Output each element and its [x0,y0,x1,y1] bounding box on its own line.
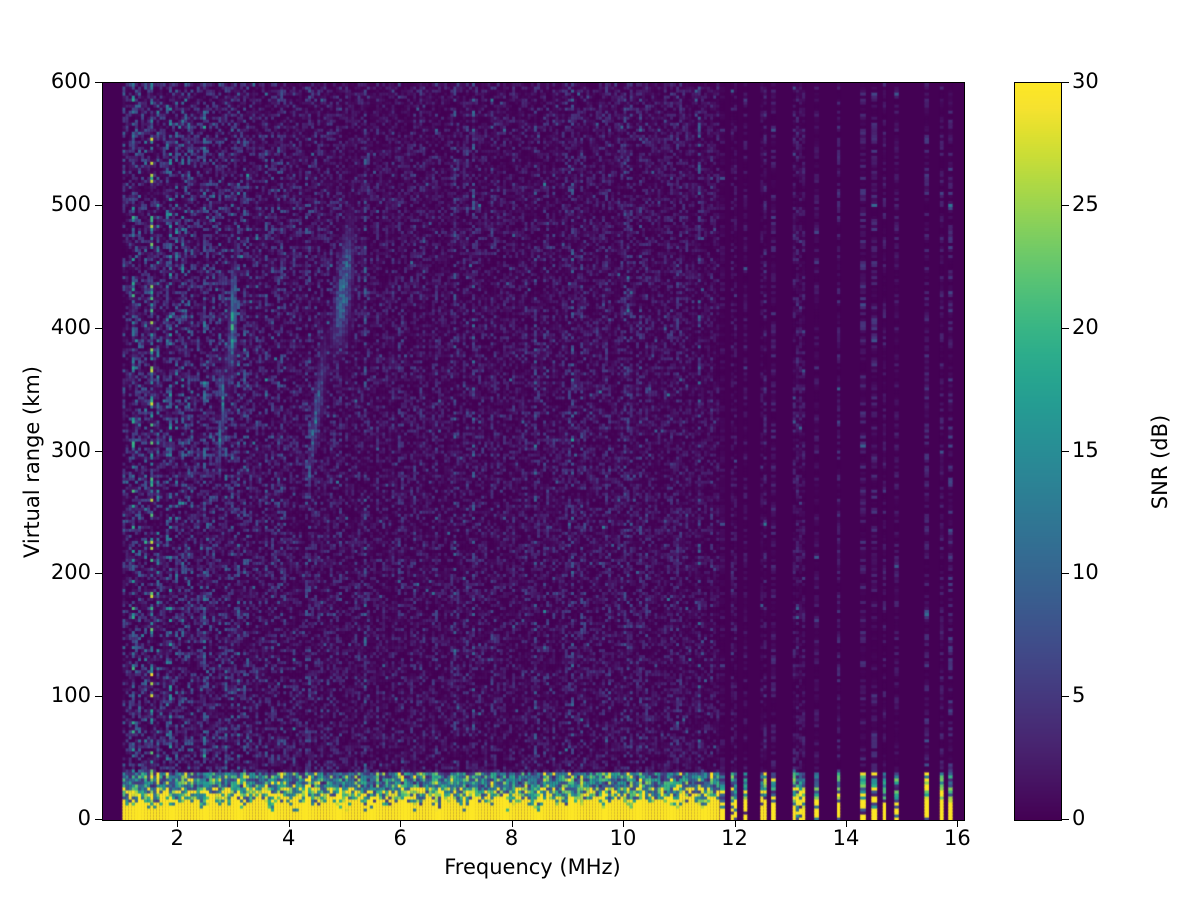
y-tick-label: 200 [51,562,91,583]
y-tick-mark [95,205,102,206]
colorbar-gradient [1015,83,1061,820]
colorbar-tick-label: 5 [1072,685,1085,706]
y-tick-mark [95,696,102,697]
colorbar-label: SNR (dB) [1148,302,1172,622]
colorbar-tick-mark [1062,696,1069,697]
colorbar-tick-mark [1062,82,1069,83]
x-tick-label: 14 [806,828,886,849]
x-tick-label: 16 [917,828,997,849]
ionogram-heatmap-canvas [103,83,964,820]
colorbar-tick-label: 20 [1072,317,1099,338]
x-tick-label: 12 [695,828,775,849]
colorbar-tick-label: 30 [1072,71,1099,92]
colorbar-tick-label: 25 [1072,194,1099,215]
y-tick-label: 500 [51,194,91,215]
x-tick-label: 8 [472,828,552,849]
colorbar [1014,82,1062,821]
x-tick-label: 10 [583,828,663,849]
x-tick-label: 6 [360,828,440,849]
x-tick-mark [735,820,736,827]
x-tick-mark [957,820,958,827]
ionogram-figure: IRF Kiruna Ionosonde KI167 2025-09-17 19… [0,0,1200,900]
colorbar-tick-label: 10 [1072,562,1099,583]
colorbar-tick-mark [1062,451,1069,452]
y-tick-label: 600 [51,71,91,92]
x-tick-mark [846,820,847,827]
colorbar-tick-label: 0 [1072,808,1085,829]
y-tick-mark [95,328,102,329]
y-axis-label: Virtual range (km) [20,302,44,622]
y-tick-label: 400 [51,317,91,338]
x-tick-mark [400,820,401,827]
heatmap-plot-area [102,82,965,821]
x-tick-mark [623,820,624,827]
y-tick-mark [95,573,102,574]
x-tick-label: 4 [249,828,329,849]
y-tick-label: 300 [51,440,91,461]
x-axis-label: Frequency (MHz) [102,855,963,879]
colorbar-tick-mark [1062,328,1069,329]
colorbar-tick-label: 15 [1072,440,1099,461]
x-tick-mark [177,820,178,827]
y-tick-label: 100 [51,685,91,706]
y-tick-mark [95,451,102,452]
y-tick-label: 0 [78,808,91,829]
colorbar-tick-mark [1062,205,1069,206]
x-tick-mark [289,820,290,827]
y-tick-mark [95,819,102,820]
colorbar-tick-mark [1062,819,1069,820]
x-tick-mark [512,820,513,827]
x-tick-label: 2 [137,828,217,849]
y-tick-mark [95,82,102,83]
colorbar-tick-mark [1062,573,1069,574]
